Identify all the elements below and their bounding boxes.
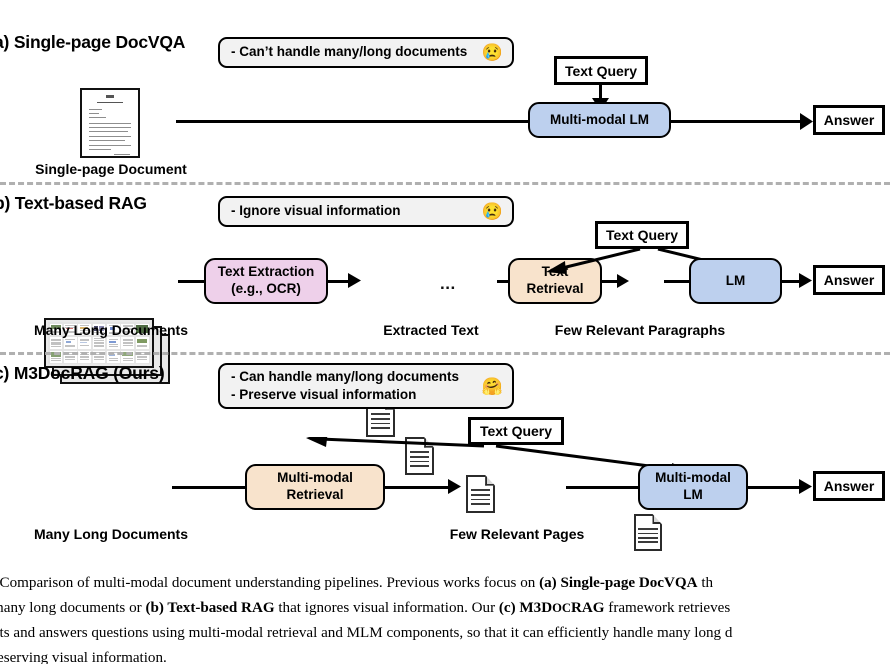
section-b-callout-line-1: - Ignore visual information [231,202,401,220]
many-long-documents-caption-b: Many Long Documents [12,322,210,338]
caption-l2-bold-c: (c) M3D [499,600,552,616]
crying-face-emoji: 😢 [482,203,503,220]
caption-l2-mid: that ignores visual information. Our [275,600,499,616]
caption-l1-pre: . Comparison of multi-modal document und… [0,575,539,591]
text-extraction-label-1: Text Extraction [218,264,315,281]
single-page-document-caption: Single-page Document [20,161,202,177]
figure-caption-line-3: nts and answers questions using multi-mo… [0,621,732,647]
connector-docs-to-extraction [178,280,206,283]
extracted-text-ellipsis: ... [440,274,456,294]
section-b-text-query-box: Text Query [595,221,689,249]
section-divider-2 [0,352,890,355]
crying-face-emoji: 😢 [482,44,503,61]
connector-paragraph-to-lm [664,280,690,283]
section-a-title: a) Single-page DocVQA [0,32,185,53]
section-b-answer-box: Answer [813,265,885,295]
connector-pages-to-mlm-c [566,486,642,489]
section-b-lm-box: LM [689,258,782,304]
figure-root: a) Single-page DocVQA - Can’t handle man… [0,0,890,664]
arrow-head-answer-c [799,479,812,494]
arrow-head-answer-b [799,273,812,288]
figure-caption-line-1: . Comparison of multi-modal document und… [0,571,713,597]
caption-l2-bold-c-smallcaps: OC [552,601,571,615]
arrow-head-answer-a [800,113,813,130]
connector-mlm-to-answer-a [671,120,803,123]
arrow-head-pages [448,479,461,494]
section-c-answer-box: Answer [813,471,885,501]
section-c-callout: - Can handle many/long documents - Prese… [218,363,514,409]
many-long-documents-caption-c: Many Long Documents [12,526,210,542]
caption-l1-post: th [698,575,714,591]
relevant-paragraph-file-icon [634,514,662,551]
section-a-callout: - Can’t handle many/long documents 😢 [218,37,514,68]
connector-mlm-to-answer-c [748,486,802,489]
single-page-document-thumbnail [80,88,140,158]
arrow-head-extraction [348,273,361,288]
figure-caption-line-2: many long documents or (b) Text-based RA… [0,596,730,622]
section-c-title: c) M3DocRAG (Ours) [0,363,164,384]
caption-l2-bold-c-tail: RAG [571,600,605,616]
text-extraction-label-2: (e.g., OCR) [231,281,301,298]
few-relevant-pages-caption: Few Relevant Pages [438,526,596,542]
few-relevant-paragraphs-caption: Few Relevant Paragraphs [521,322,759,338]
text-retrieval-label-2: Retrieval [526,281,583,298]
connector-docs-to-mmretrieval [172,486,248,489]
connector-mmretrieval-to-pages [385,486,451,489]
extracted-text-caption: Extracted Text [352,322,510,338]
section-a-mlm-label: Multi-modal LM [550,112,649,129]
section-b-title: b) Text-based RAG [0,193,147,214]
section-a-callout-lines: - Can’t handle many/long documents [231,43,467,61]
section-c-callout-line-2: - Preserve visual information [231,386,459,404]
section-c-multimodal-lm-box: Multi-modal LM [638,464,748,510]
section-a-multimodal-lm-box: Multi-modal LM [528,102,671,138]
section-a-callout-line-1: - Can’t handle many/long documents [231,43,467,61]
connector-extraction-to-text [328,280,350,283]
extracted-text-file-icon-3 [466,475,495,513]
section-b-callout: - Ignore visual information 😢 [218,196,514,227]
section-b-callout-lines: - Ignore visual information [231,202,401,220]
multimodal-retrieval-label-2: Retrieval [286,487,343,504]
section-c-callout-line-1: - Can handle many/long documents [231,368,459,386]
caption-l2-post: framework retrieves [605,600,731,616]
figure-caption-line-4: reserving visual information. [0,646,167,664]
section-divider-1 [0,182,890,185]
connector-doc-to-mlm [176,120,528,123]
section-a-text-query-box: Text Query [554,56,648,85]
section-c-mlm-label-2: LM [683,487,703,504]
caption-l2-bold-b: (b) Text-based RAG [145,600,274,616]
caption-l1-bold-a: (a) Single-page DocVQA [539,575,697,591]
section-b-lm-label: LM [726,273,746,290]
caption-l2-pre: many long documents or [0,600,145,616]
text-extraction-box: Text Extraction (e.g., OCR) [204,258,328,304]
section-a-answer-box: Answer [813,105,885,135]
section-c-callout-lines: - Can handle many/long documents - Prese… [231,368,459,404]
hugging-face-emoji: 🤗 [482,378,503,395]
section-c-mlm-label-1: Multi-modal [655,470,731,487]
